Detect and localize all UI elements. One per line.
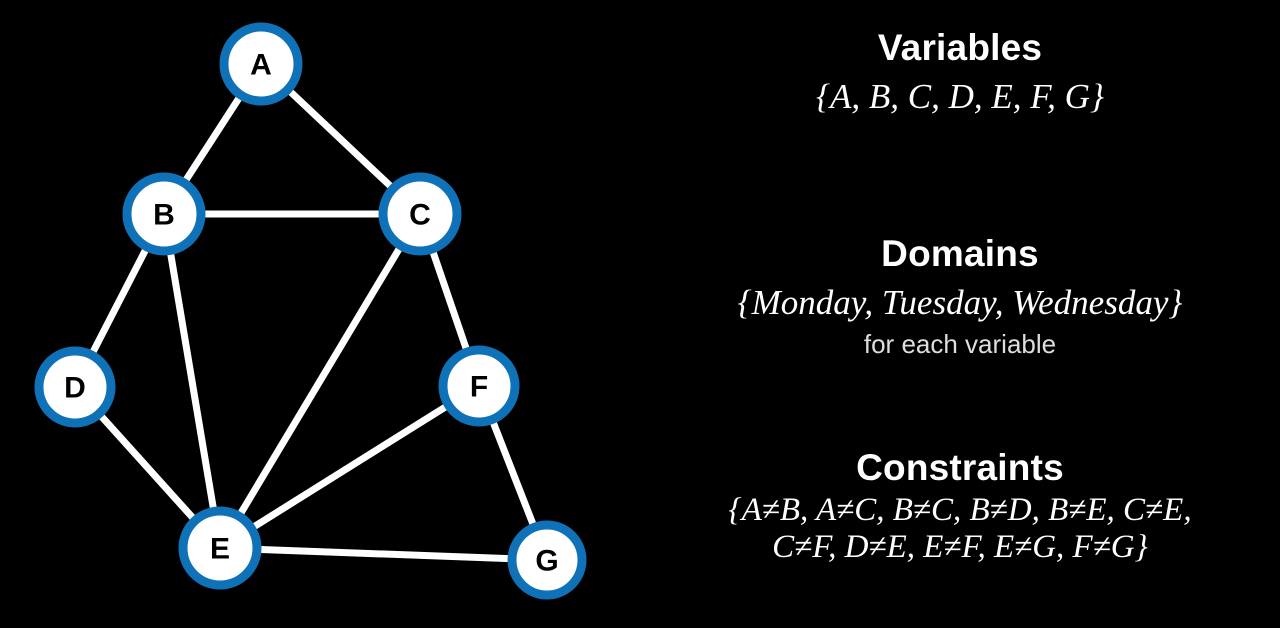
graph-node-d[interactable]: D [39,351,111,423]
graph-node-f[interactable]: F [443,350,515,422]
graph-node-e[interactable]: E [183,511,257,585]
graph-node-b[interactable]: B [127,177,201,251]
constraint-graph: ABCDEFG [0,0,640,628]
graph-node-a[interactable]: A [224,27,298,101]
node-label-d: D [64,372,86,405]
domains-section: Domains {Monday, Tuesday, Wednesday} for… [640,234,1280,360]
graph-node-g[interactable]: G [512,525,582,595]
node-label-f: F [470,371,488,404]
node-label-g: G [535,545,558,578]
graph-node-c[interactable]: C [383,177,457,251]
constraints-section: Constraints {A≠B, A≠C, B≠C, B≠D, B≠E, C≠… [640,448,1280,566]
node-label-b: B [153,199,175,232]
node-label-c: C [409,199,431,232]
variables-heading: Variables [640,28,1280,68]
variables-set: {A, B, C, D, E, F, G} [640,68,1280,117]
constraints-set: {A≠B, A≠C, B≠C, B≠D, B≠E, C≠E, C≠F, D≠E,… [640,488,1280,566]
domains-set: {Monday, Tuesday, Wednesday} [640,274,1280,323]
node-label-e: E [210,533,230,566]
variables-section: Variables {A, B, C, D, E, F, G} [640,28,1280,117]
graph-edge-layer [75,64,547,560]
constraints-set-line-1: {A≠B, A≠C, B≠C, B≠D, B≠E, C≠E, [652,492,1268,529]
graph-edge-e-g [220,548,547,560]
slide-root: ABCDEFG Variables {A, B, C, D, E, F, G} … [0,0,1280,628]
constraints-heading: Constraints [640,448,1280,488]
constraints-set-line-2: C≠F, D≠E, E≠F, E≠G, F≠G} [652,529,1268,566]
node-label-a: A [250,49,272,82]
graph-edge-e-f [220,386,479,548]
definitions-panel: Variables {A, B, C, D, E, F, G} Domains … [640,0,1280,628]
domains-heading: Domains [640,234,1280,274]
domains-note: for each variable [640,323,1280,360]
graph-edge-c-e [220,214,420,548]
constraint-graph-panel: ABCDEFG [0,0,640,628]
